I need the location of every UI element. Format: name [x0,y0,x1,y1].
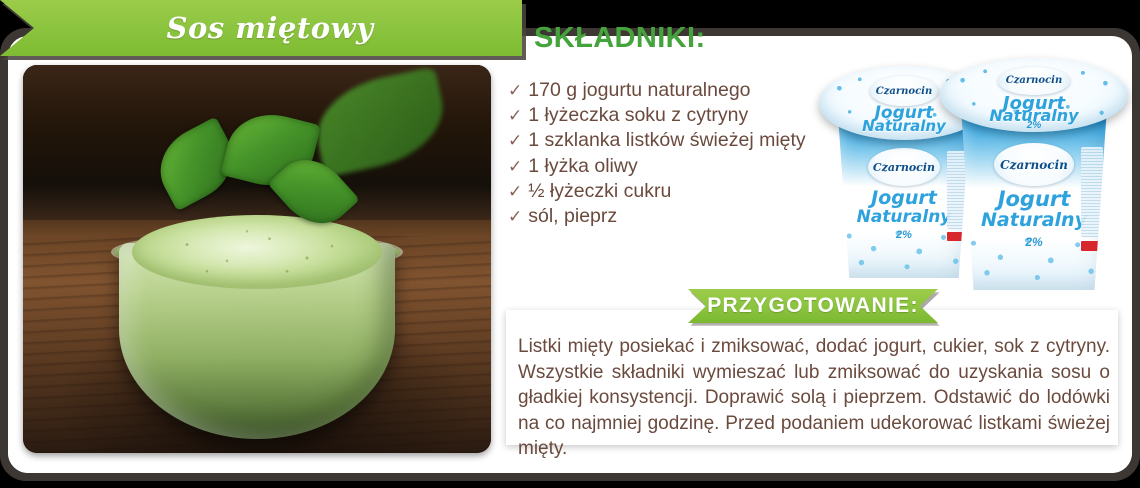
check-icon: ✓ [508,207,522,226]
ingredient-text: 1 łyżka oliwy [528,155,637,177]
list-item: ✓1 łyżka oliwy [508,154,838,179]
recipe-card: Sos miętowy SKŁADNIKI: ✓170 g jogurtu na… [0,0,1140,481]
list-item: ✓1 szklanka listków świeżej mięty [508,128,838,153]
ingredients-list: ✓170 g jogurtu naturalnego ✓1 łyżeczka s… [508,78,838,229]
preparation-text: Listki mięty posiekać i zmiksować, dodać… [518,334,1110,488]
ingredient-text: ½ łyżeczki cukru [528,180,671,202]
brand-name: Czarnocin [876,86,932,97]
promo-tag [1081,241,1099,251]
lid-fat-percentage: 2% [940,120,1128,131]
photo-background [23,65,491,453]
sauce-specks [132,215,382,289]
nutrition-label [1081,147,1103,237]
check-icon: ✓ [508,106,522,125]
check-icon: ✓ [508,157,522,176]
brand-name: Czarnocin [1000,158,1068,172]
recipe-photo [23,65,491,453]
brand-badge: Czarnocin [998,67,1069,95]
product-image: Czarnocin Jogurt Naturalny 2% Czarnocin … [828,58,1118,290]
ingredient-text: 170 g jogurtu naturalnego [528,79,750,101]
brand-name: Czarnocin [1006,75,1062,86]
check-icon: ✓ [508,131,522,150]
list-item: ✓sól, pieprz [508,204,838,229]
ingredient-text: 1 łyżeczka soku z cytryny [528,104,748,126]
page-title: Sos miętowy [0,0,522,56]
list-item: ✓½ łyżeczki cukru [508,179,838,204]
brand-badge: Czarnocin [870,76,938,106]
brand-name: Czarnocin [873,161,935,174]
ingredient-text: sól, pieprz [528,205,617,227]
list-item: ✓170 g jogurtu naturalnego [508,78,838,103]
ingredients-heading: SKŁADNIKI: [534,22,706,55]
list-item: ✓1 łyżeczka soku z cytryny [508,103,838,128]
brand-badge: Czarnocin [868,148,941,187]
cup-lid: Czarnocin Jogurt Naturalny 2% [940,58,1128,132]
yogurt-cup-right: Czarnocin Jogurt Naturalny 2% Czarnocin … [950,58,1118,290]
preparation-heading: PRZYGOTOWANIE: [688,289,938,323]
check-icon: ✓ [508,81,522,100]
brand-badge: Czarnocin [994,143,1075,186]
ingredient-text: 1 szklanka listków świeżej mięty [528,129,805,151]
check-icon: ✓ [508,182,522,201]
